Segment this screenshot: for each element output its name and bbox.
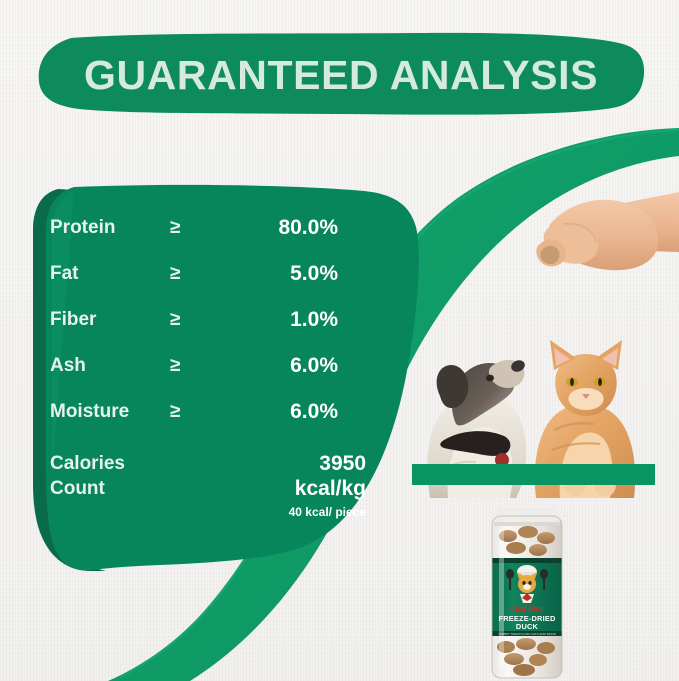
table-row: Moisture ≥ 6.0%: [50, 401, 366, 435]
row-operator: ≥: [170, 217, 230, 239]
row-label: Fat: [50, 263, 170, 285]
row-operator: ≥: [170, 263, 230, 285]
row-value: 6.0%: [230, 355, 366, 377]
jar-lid-rim: [494, 522, 560, 526]
row-value: 5.0%: [230, 263, 366, 285]
jar-product-line2: DUCK: [516, 622, 539, 631]
dog-eye: [486, 375, 494, 382]
page-title: GUARANTEED ANALYSIS: [37, 33, 645, 117]
row-operator: ≥: [170, 309, 230, 331]
jar-brand-text: Chef Kitty: [510, 604, 544, 613]
table-row: Fat ≥ 5.0%: [50, 263, 366, 297]
row-operator: ≥: [170, 401, 230, 423]
row-value: 80.0%: [230, 217, 366, 239]
calories-per-piece: 40 kcal/ piece: [188, 505, 394, 519]
green-shelf-bar: [412, 464, 655, 485]
guaranteed-analysis-panel: Protein ≥ 80.0% Fat ≥ 5.0% Fiber ≥ 1.0% …: [28, 183, 428, 578]
cat-pupil-right: [598, 378, 602, 386]
calories-value: 3950 kcal/kg: [208, 451, 394, 501]
cat-pupil-left: [570, 378, 574, 386]
jar-tagline: YUMMY TREATS FOR CATS AND DOGS: [498, 632, 556, 636]
calories-value-line2: kcal/kg: [208, 476, 366, 501]
infographic-canvas: GUARANTEED ANALYSIS Protein ≥ 80.0% Fat …: [0, 0, 679, 681]
row-label: Protein: [50, 217, 170, 239]
table-row: Protein ≥ 80.0%: [50, 217, 366, 251]
banner: GUARANTEED ANALYSIS: [37, 32, 645, 116]
row-label: Ash: [50, 355, 170, 377]
product-jar: Chef Kitty FREEZE-DRIED DUCK YUMMY TREAT…: [486, 506, 568, 681]
pet-scene: [404, 178, 679, 498]
hand-offering-treat: [536, 192, 679, 270]
jar-glass-highlight: [499, 528, 504, 670]
row-value: 6.0%: [230, 401, 366, 423]
row-operator: ≥: [170, 355, 230, 377]
calories-label-line2: Count: [50, 476, 190, 501]
analysis-table: Protein ≥ 80.0% Fat ≥ 5.0% Fiber ≥ 1.0% …: [28, 183, 428, 578]
row-value: 1.0%: [230, 309, 366, 331]
table-row: Ash ≥ 6.0%: [50, 355, 366, 389]
calories-label-line1: Calories: [50, 451, 190, 476]
calories-value-line1: 3950: [208, 451, 366, 476]
table-row: Fiber ≥ 1.0%: [50, 309, 366, 343]
calories-label: Calories Count: [50, 451, 190, 501]
dog-ear: [437, 365, 469, 408]
row-label: Fiber: [50, 309, 170, 331]
row-label: Moisture: [50, 401, 170, 423]
